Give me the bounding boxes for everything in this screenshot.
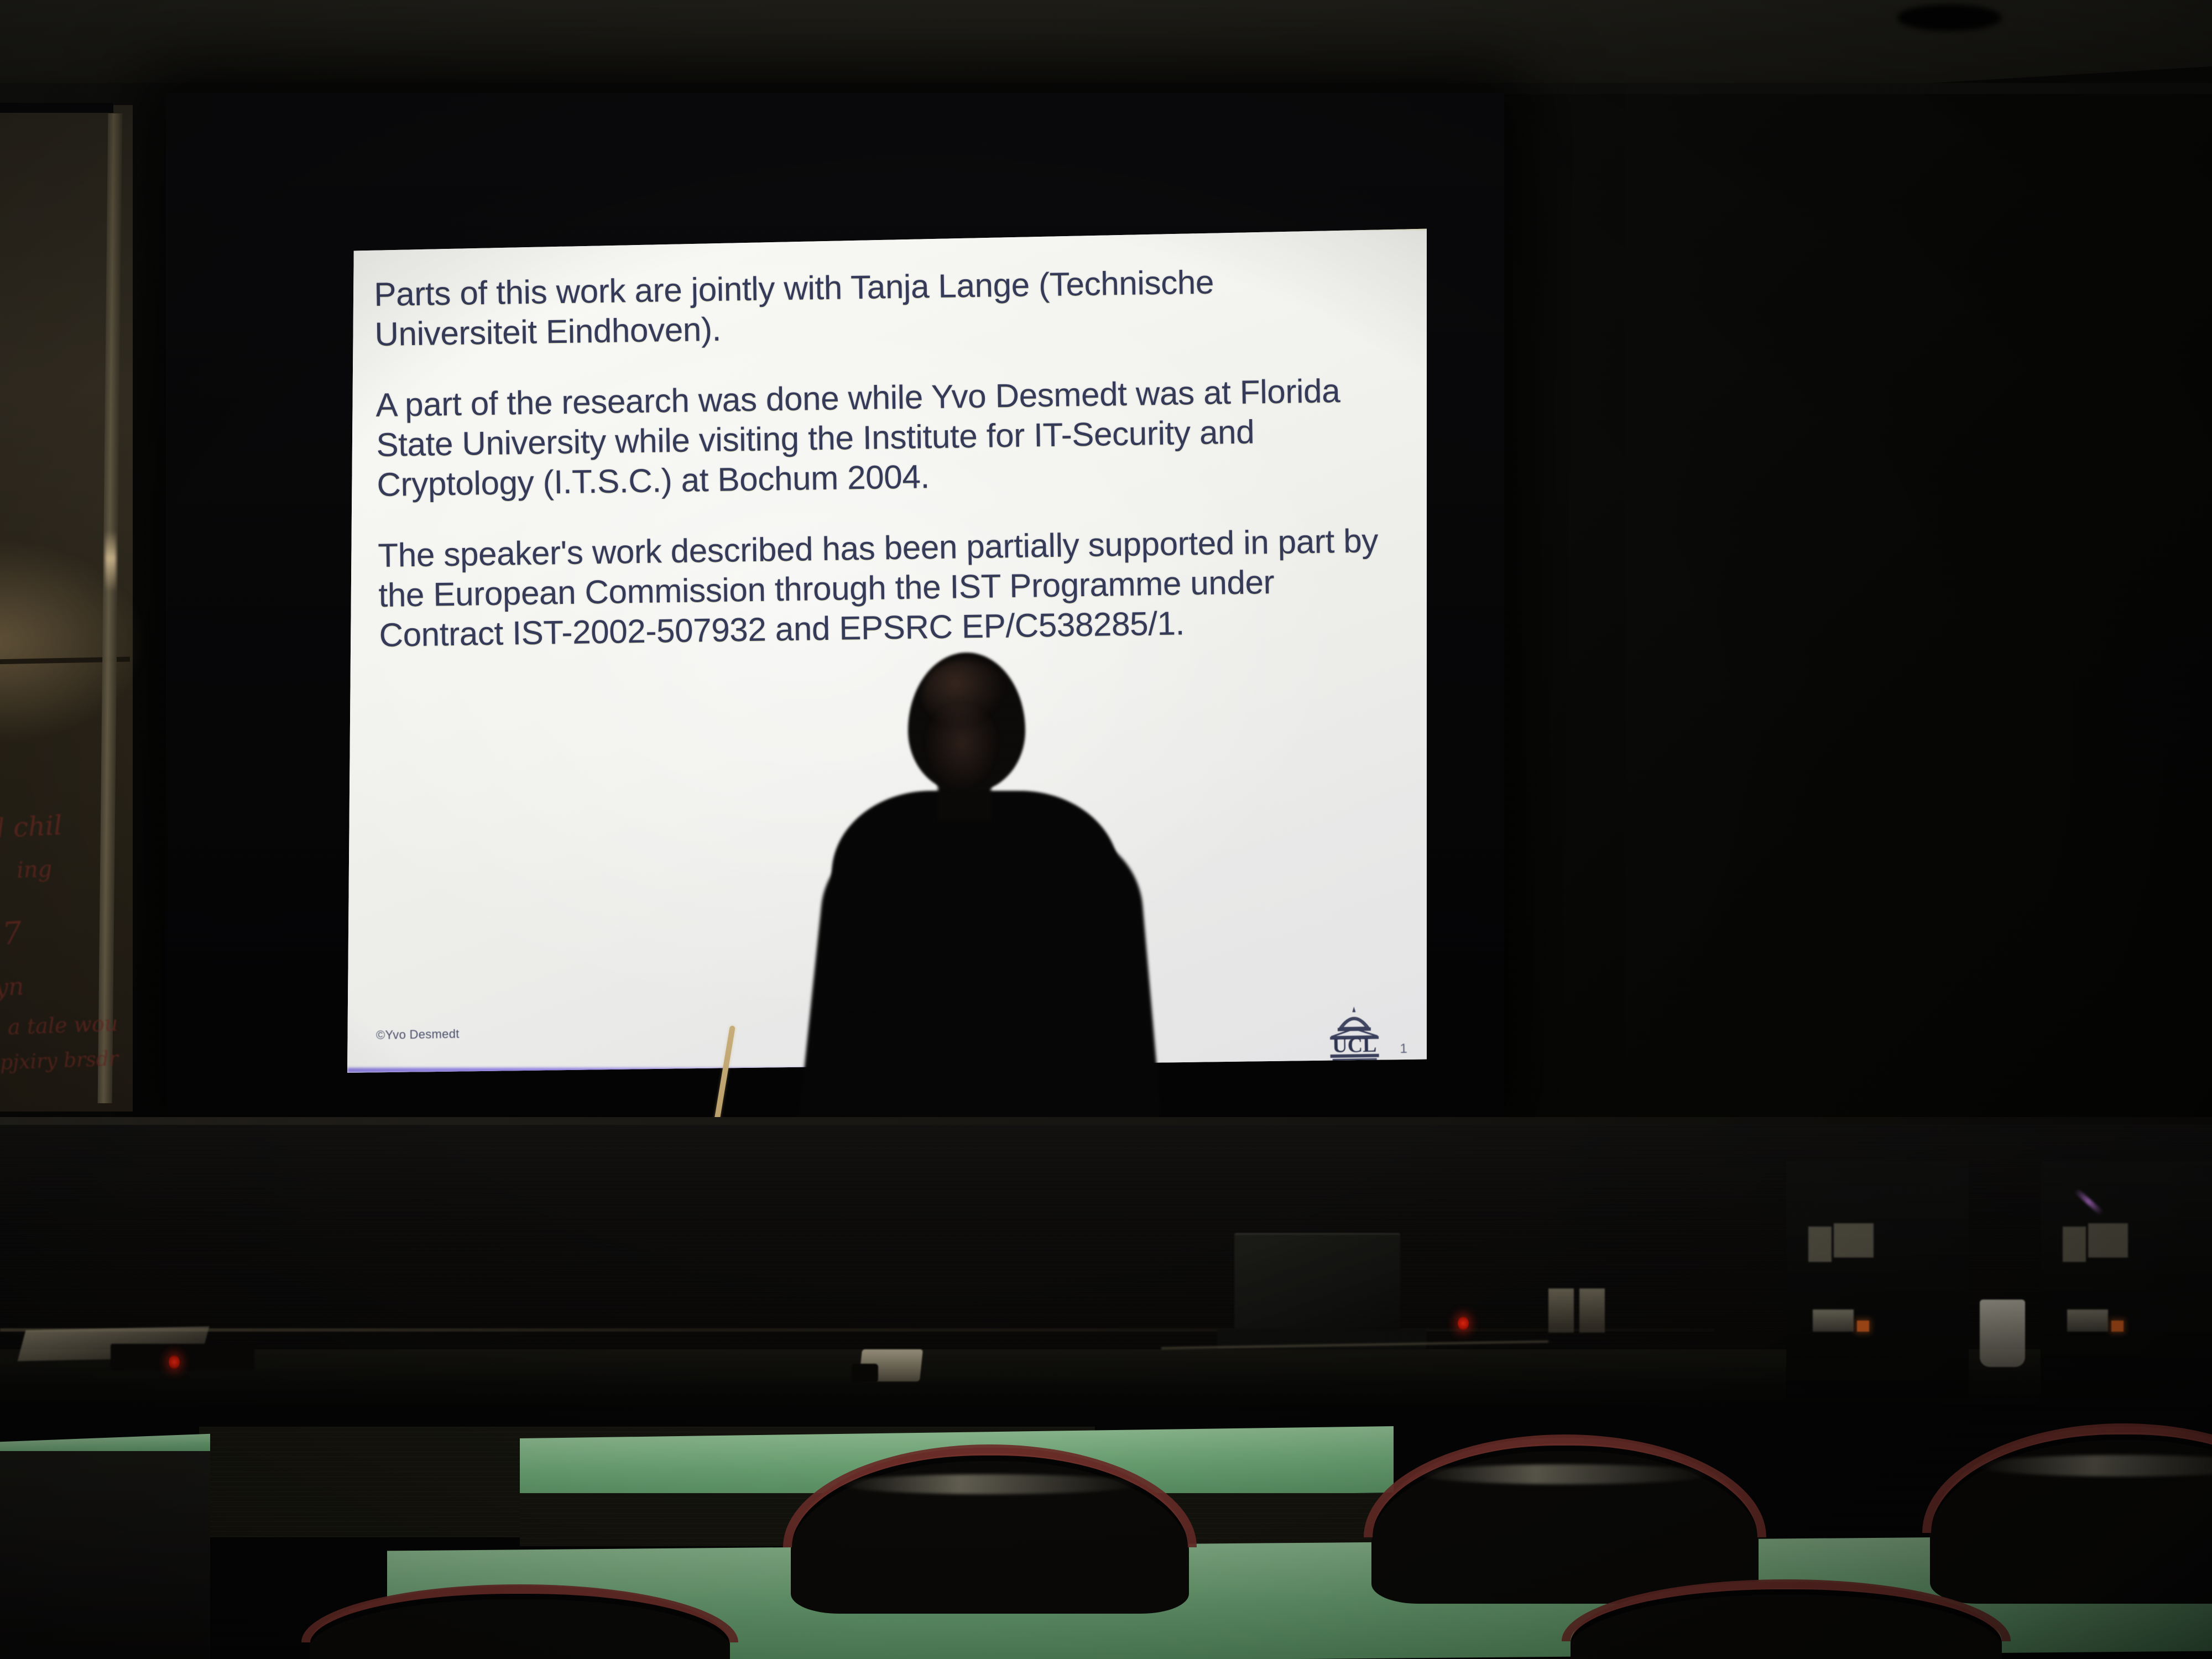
desk-front-row bbox=[387, 1535, 2212, 1659]
av-rack-right bbox=[2041, 1161, 2212, 1399]
laptop-power-led bbox=[1458, 1316, 1469, 1331]
wall-panel-left bbox=[1548, 1288, 1574, 1333]
projected-slide: Parts of this work are jointly with Tanj… bbox=[347, 225, 1427, 1073]
chair-sheen bbox=[1976, 1455, 2212, 1476]
bench-led-indicator bbox=[169, 1355, 180, 1369]
rack-label-b bbox=[1834, 1223, 1874, 1258]
rack-label-a bbox=[2063, 1227, 2086, 1262]
chair-rim bbox=[1364, 1434, 1766, 1537]
lecturer-laptop bbox=[1234, 1233, 1400, 1339]
whiteboard-edge-highlight bbox=[105, 531, 116, 592]
slide-footer-right: UCL 1 bbox=[1323, 1003, 1407, 1063]
slide-copyright: ©Yvo Desmedt bbox=[376, 1027, 460, 1042]
svg-text:UCL: UCL bbox=[1332, 1034, 1377, 1057]
right-wall-panel bbox=[1504, 94, 2212, 1145]
rack-display[interactable] bbox=[1813, 1310, 1854, 1332]
slide-page-number: 1 bbox=[1400, 1041, 1407, 1062]
rack-display[interactable] bbox=[2067, 1310, 2108, 1332]
whiteboard-light-glow bbox=[0, 542, 144, 741]
rack-label-a bbox=[1808, 1227, 1832, 1262]
bench-small-dark-object bbox=[852, 1364, 878, 1383]
rack-label-b bbox=[2088, 1223, 2128, 1258]
chair-sheen bbox=[1418, 1464, 1712, 1484]
desk-left-front bbox=[0, 1451, 210, 1659]
lecture-hall-scene: d chil ing 7 lyn a tale wou pjxiry brsdr… bbox=[0, 0, 2212, 1659]
paper-cup bbox=[1980, 1300, 2025, 1367]
rack-status-led bbox=[2111, 1321, 2124, 1332]
av-rack-left bbox=[1786, 1161, 1969, 1399]
wall-panel-right bbox=[1579, 1288, 1605, 1333]
slide-text-block: Parts of this work are jointly with Tanj… bbox=[347, 210, 1439, 1074]
rack-status-led bbox=[1857, 1321, 1869, 1332]
ucl-logo-icon: UCL bbox=[1323, 1003, 1386, 1063]
desk-back-row-front bbox=[520, 1493, 1394, 1546]
slide-paragraph-1: Parts of this work are jointly with Tanj… bbox=[374, 260, 1381, 354]
slide-paragraph-2: A part of the research was done while Yv… bbox=[375, 371, 1384, 505]
front-bench-lip bbox=[0, 1328, 1714, 1332]
front-bench-top-edge bbox=[0, 1117, 2212, 1125]
slide-paragraph-3: The speaker's work described has been pa… bbox=[378, 521, 1386, 655]
ceiling-fixture-icon bbox=[1897, 4, 2002, 31]
chair-rim bbox=[1922, 1423, 2212, 1533]
bench-dark-object bbox=[111, 1344, 254, 1370]
whiteboard-top-trim bbox=[0, 103, 113, 113]
